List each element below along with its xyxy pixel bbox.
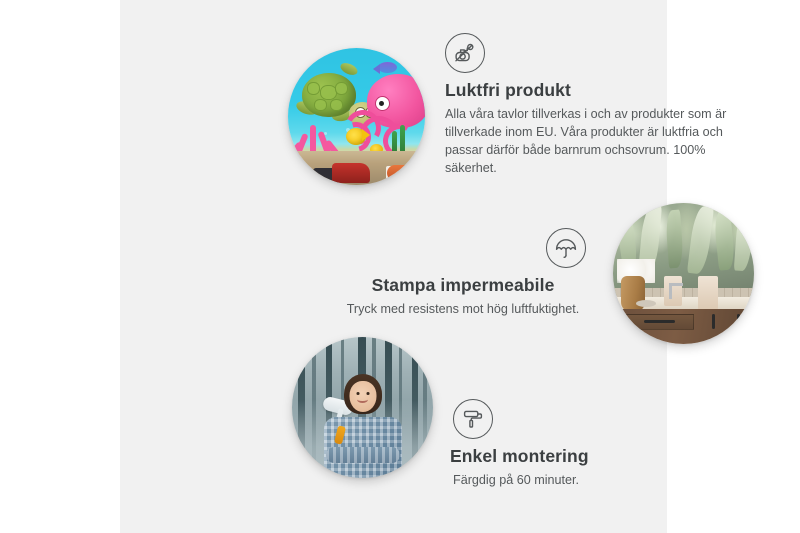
no-odor-spray-bottle-icon <box>445 33 485 73</box>
blue-fish-tail <box>373 64 380 74</box>
sea-floor <box>288 151 425 185</box>
floor-object-orange <box>387 165 417 181</box>
person-eye <box>356 392 359 395</box>
feature-luktfri-produkt: Luktfri produkt Alla våra tavlor tillver… <box>445 33 750 178</box>
underwater-kids-artwork-circle[interactable] <box>288 48 425 185</box>
feature-description: Alla våra tavlor tillverkas i och av pro… <box>445 106 750 178</box>
vase <box>621 276 645 312</box>
cabinet-handle <box>737 314 740 330</box>
shell-plate <box>330 99 343 111</box>
paint-roller-icon <box>453 399 493 439</box>
seaweed <box>392 131 397 153</box>
cabinet-handle <box>712 314 715 330</box>
wooden-vanity <box>613 309 754 344</box>
feature-title: Enkel montering <box>450 446 723 467</box>
octopus-eye <box>375 96 390 111</box>
screenshot-canvas: Luktfri produkt Alla våra tavlor tillver… <box>0 0 800 533</box>
person-smile <box>357 396 368 403</box>
shell-plate <box>307 82 320 95</box>
drawer-handle <box>644 320 675 323</box>
shell-plate <box>335 82 348 95</box>
bathroom-botanical-wallpaper-circle[interactable] <box>613 203 754 344</box>
bathroom-scene <box>613 203 754 344</box>
person-face <box>349 381 376 412</box>
person-eye <box>366 392 369 395</box>
yellow-fish-tail <box>362 129 370 141</box>
umbrella-icon <box>546 228 586 268</box>
faucet-icon <box>669 283 672 299</box>
shell-plate <box>314 99 327 111</box>
towel <box>664 276 682 306</box>
feature-title: Luktfri produkt <box>445 80 750 101</box>
turtle-shell <box>302 73 356 117</box>
feature-title: Stampa impermeabile <box>332 275 594 296</box>
forest-scene <box>292 337 433 478</box>
feature-stampa-impermeabile: Stampa impermeabile Tryck med resistens … <box>332 228 594 319</box>
feature-description: Färgdig på 60 minuter. <box>453 472 723 490</box>
underwater-scene <box>288 48 425 185</box>
floor-object-red <box>332 163 370 183</box>
person-crossed-arms <box>326 447 400 463</box>
woman-paint-roller-forest-circle[interactable] <box>292 337 433 478</box>
towel <box>698 276 718 310</box>
feature-description: Tryck med resistens mot hög luftfuktighe… <box>332 301 594 319</box>
blue-fish <box>378 62 397 73</box>
feature-enkel-montering: Enkel montering Färgdig på 60 minuter. <box>453 399 723 490</box>
product-feature-panel: Luktfri produkt Alla våra tavlor tillver… <box>120 0 667 533</box>
